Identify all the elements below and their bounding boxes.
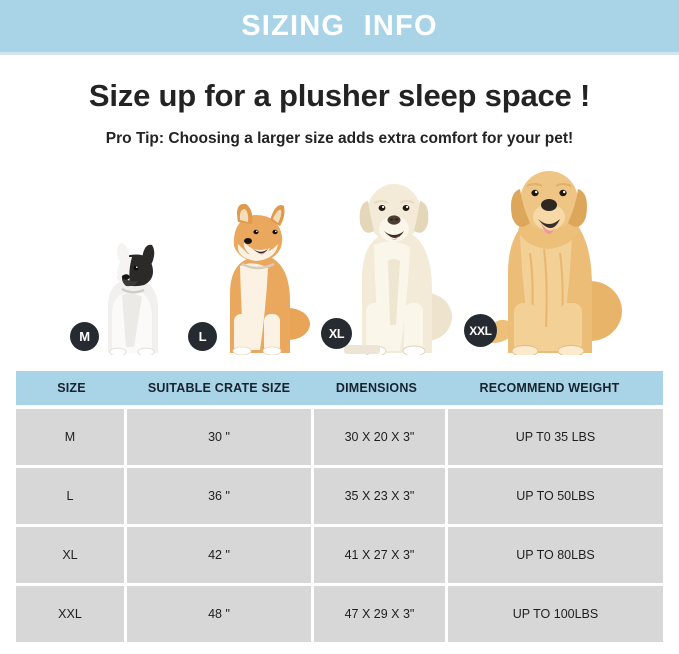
cell-weight: UP TO 80LBS [448, 527, 663, 583]
cell-weight: UP T0 35 LBS [448, 409, 663, 465]
cell-crate: 48 " [127, 586, 311, 642]
golden-retriever-image: XXL [474, 161, 624, 355]
table-row: XL 42 " 41 X 27 X 3" UP TO 80LBS [16, 527, 663, 583]
table-body: M 30 " 30 X 20 X 3" UP T0 35 LBS L 36 " … [16, 409, 663, 642]
dog-size-comparison-row: M [0, 160, 679, 355]
column-header-dimensions: DIMENSIONS [311, 381, 442, 395]
size-badge-xxl: XXL [464, 314, 497, 347]
banner-title: SIZING INFO [241, 10, 437, 43]
cell-crate: 30 " [127, 409, 311, 465]
cell-dimensions: 47 X 29 X 3" [314, 586, 445, 642]
cell-dimensions: 30 X 20 X 3" [314, 409, 445, 465]
labrador-image: XL [330, 175, 458, 355]
cell-crate: 36 " [127, 468, 311, 524]
table-row: XXL 48 " 47 X 29 X 3" UP TO 100LBS [16, 586, 663, 642]
cell-size: L [16, 468, 124, 524]
french-bulldog-image: M [78, 235, 186, 355]
table-row: L 36 " 35 X 23 X 3" UP TO 50LBS [16, 468, 663, 524]
shiba-inu-image: L [196, 198, 316, 355]
column-header-size: SIZE [16, 381, 127, 395]
cell-crate: 42 " [127, 527, 311, 583]
cell-size: XXL [16, 586, 124, 642]
column-header-crate: SUITABLE CRATE SIZE [127, 381, 311, 395]
pro-tip-subheading: Pro Tip: Choosing a larger size adds ext… [0, 130, 679, 148]
dog-slot-m: M [78, 235, 186, 355]
banner-bottom-edge [0, 52, 679, 55]
dog-slot-xxl: XXL [474, 161, 624, 355]
cell-weight: UP TO 100LBS [448, 586, 663, 642]
cell-size: M [16, 409, 124, 465]
dog-slot-xl: XL [330, 175, 458, 355]
sizing-info-banner: SIZING INFO [0, 0, 679, 52]
cell-weight: UP TO 50LBS [448, 468, 663, 524]
column-header-weight: RECOMMEND WEIGHT [442, 381, 657, 395]
table-header-row: SIZE SUITABLE CRATE SIZE DIMENSIONS RECO… [16, 371, 663, 405]
dog-slot-l: L [196, 198, 316, 355]
cell-size: XL [16, 527, 124, 583]
size-badge-l: L [188, 322, 217, 351]
page-headline: Size up for a plusher sleep space ! [0, 78, 679, 114]
cell-dimensions: 35 X 23 X 3" [314, 468, 445, 524]
table-row: M 30 " 30 X 20 X 3" UP T0 35 LBS [16, 409, 663, 465]
sizing-table: SIZE SUITABLE CRATE SIZE DIMENSIONS RECO… [16, 371, 663, 645]
size-badge-xl: XL [321, 318, 352, 349]
cell-dimensions: 41 X 27 X 3" [314, 527, 445, 583]
size-badge-m: M [70, 322, 99, 351]
